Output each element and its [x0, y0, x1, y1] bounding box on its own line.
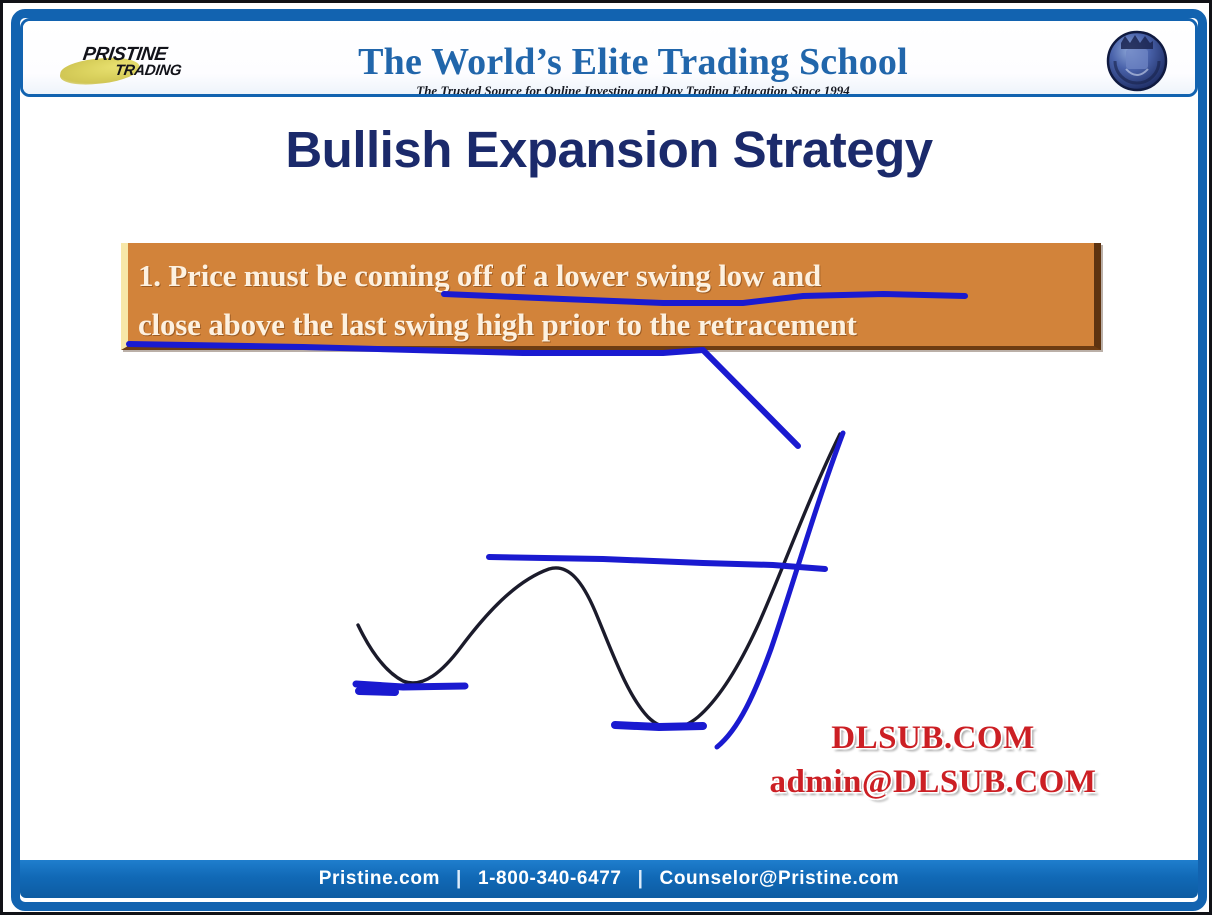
- callout-box: 1. Price must be coming off of a lower s…: [121, 243, 1101, 350]
- slide-title: Bullish Expansion Strategy: [3, 121, 1212, 179]
- slide-frame: PRISTINE TRADING The World’s Elite Tradi…: [0, 0, 1212, 915]
- callout-line-2: close above the last swing high prior to…: [138, 300, 1094, 349]
- callout-text: 1. Price must be coming off of a lower s…: [138, 251, 1094, 349]
- footer-bar: Pristine.com|1-800-340-6477|Counselor@Pr…: [20, 860, 1198, 898]
- footer-phone[interactable]: 1-800-340-6477: [478, 868, 622, 889]
- footer-separator-2: |: [622, 868, 660, 889]
- pristine-crest-badge-icon: [1101, 27, 1173, 97]
- footer-separator-1: |: [440, 868, 478, 889]
- footer-contact-row: Pristine.com|1-800-340-6477|Counselor@Pr…: [20, 860, 1198, 898]
- header-tagline: The Trusted Source for Online Investing …: [253, 83, 1013, 97]
- header-band: PRISTINE TRADING The World’s Elite Tradi…: [20, 18, 1198, 97]
- pristine-wing-logo-icon: PRISTINE TRADING: [61, 38, 241, 88]
- footer-email[interactable]: Counselor@Pristine.com: [660, 868, 900, 889]
- watermark: DLSUB.COM admin@DLSUB.COM: [693, 716, 1173, 804]
- brand-word-trading: TRADING: [114, 62, 183, 79]
- callout-line-1: 1. Price must be coming off of a lower s…: [138, 251, 1094, 300]
- header-title: The World’s Elite Trading School: [253, 41, 1013, 83]
- watermark-line-2: admin@DLSUB.COM: [693, 760, 1173, 804]
- footer-website[interactable]: Pristine.com: [319, 868, 440, 889]
- watermark-line-1: DLSUB.COM: [693, 716, 1173, 760]
